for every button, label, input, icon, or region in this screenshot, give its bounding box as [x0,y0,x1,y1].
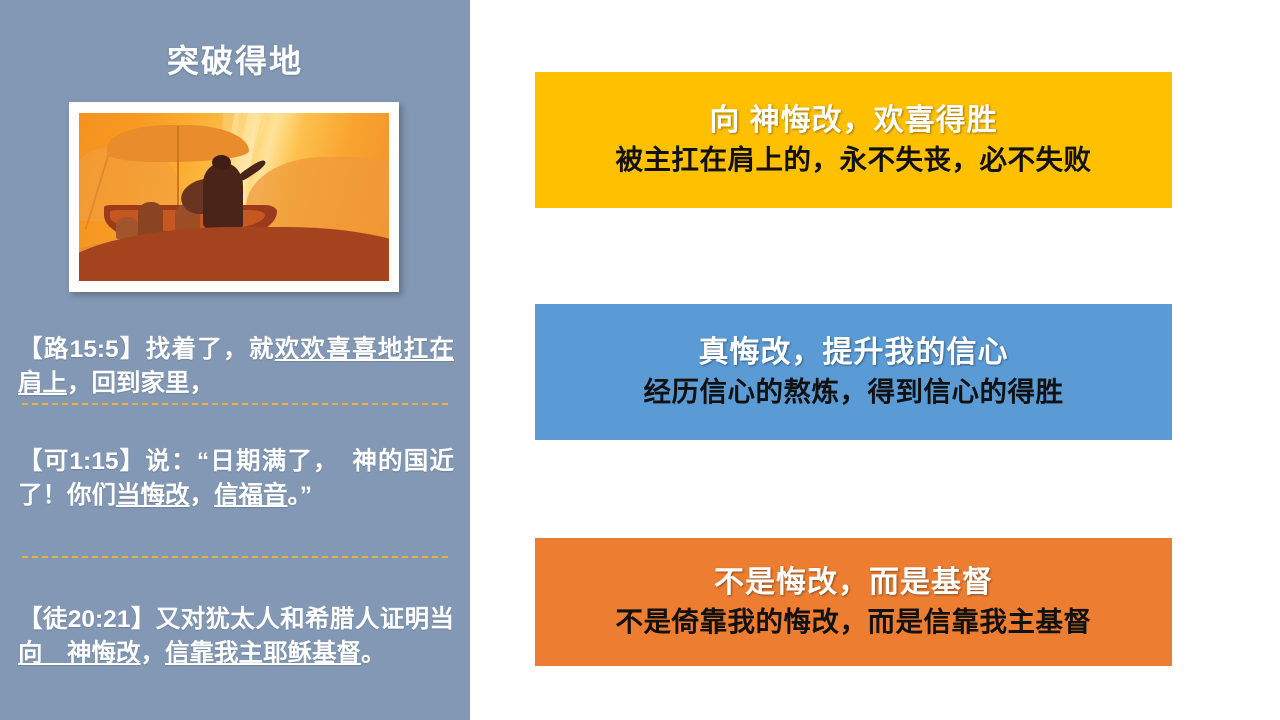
banner-not-repentance-but-christ: 不是悔改，而是基督 不是倚靠我的悔改，而是信靠我主基督 [535,538,1172,666]
verse-emphasis: 信靠我主耶稣基督 [165,640,361,667]
banner-headline: 向 神悔改，欢喜得胜 [709,104,997,138]
verse-divider [22,403,448,405]
banner-headline: 不是悔改，而是基督 [714,566,993,600]
banner-subline: 不是倚靠我的悔改，而是信靠我主基督 [616,606,1092,638]
verse-divider [22,556,448,558]
sidebar-panel: 突破得地 【路15:5】找着了，就欢欢喜喜地扛在肩上，回到家里， [0,0,470,720]
verse-emphasis: 向 神悔改 [18,640,141,667]
verse-emphasis: 信福音 [214,482,288,509]
illustration-frame [69,102,399,292]
verse-text: 【徒20:21】又对犹太人和希腊人证明当 [18,606,454,633]
verse-emphasis: 当悔改 [116,482,190,509]
verse-text: ， [190,482,215,509]
verse-text: 。 [361,640,386,667]
banner-subline: 被主扛在肩上的，永不失丧，必不失败 [616,144,1092,176]
verse-text: 。” [288,482,313,509]
verse-text: ， [141,640,166,667]
scripture-verse-luke: 【路15:5】找着了，就欢欢喜喜地扛在肩上，回到家里， [10,333,462,403]
hero-head-shape [212,155,231,170]
scripture-verse-acts: 【徒20:21】又对犹太人和希腊人证明当向 神悔改，信靠我主耶稣基督。 [10,603,462,673]
hero-figure [203,163,243,230]
verse-text: 【路15:5】找着了，就 [18,336,275,363]
verse-text: ，回到家里， [67,370,214,397]
banner-headline: 真悔改，提升我的信心 [699,336,1009,370]
banner-subline: 经历信心的熬炼，得到信心的得胜 [644,376,1064,408]
banner-true-repentance-faith: 真悔改，提升我的信心 经历信心的熬炼，得到信心的得胜 [535,304,1172,440]
scripture-verse-mark: 【可1:15】说：“日期满了， 神的国近了！你们当悔改，信福音。” [10,445,462,515]
boat-in-storm-illustration [79,113,389,281]
crew-figure [138,202,163,234]
banner-repentance-victory: 向 神悔改，欢喜得胜 被主扛在肩上的，永不失丧，必不失败 [535,72,1172,208]
page-title: 突破得地 [0,0,470,79]
